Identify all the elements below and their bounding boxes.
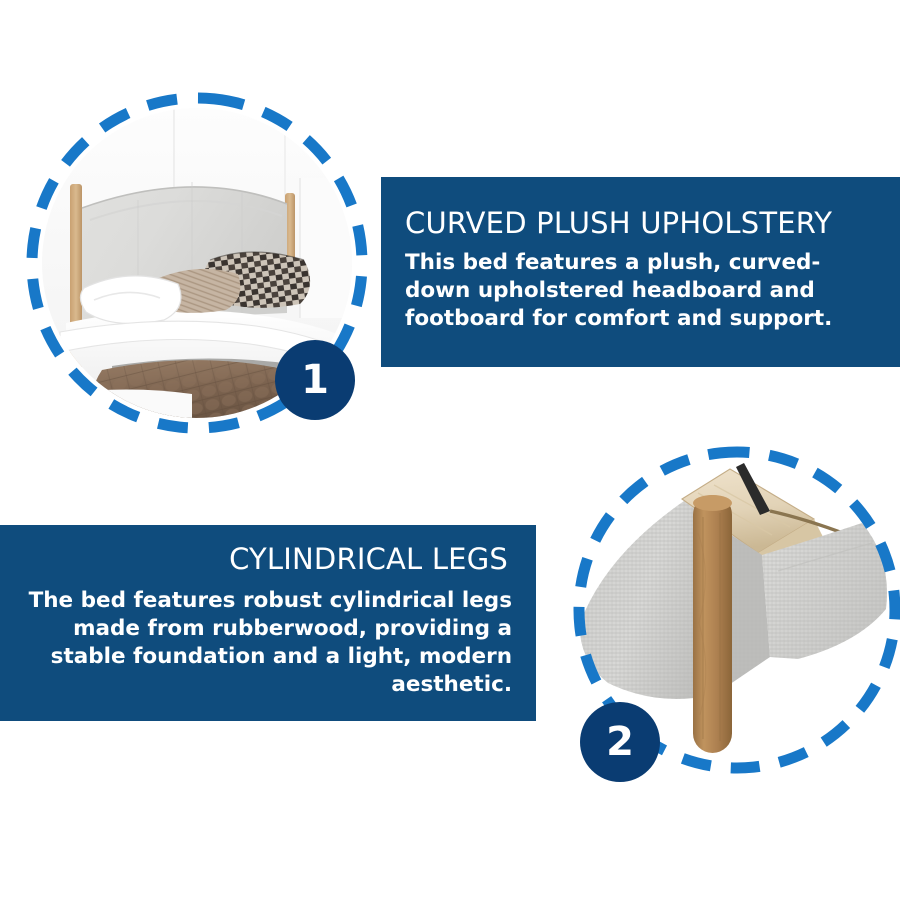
feature-number-badge-2: 2: [580, 702, 660, 782]
feature-body-1: This bed features a plush, curved-down u…: [405, 249, 876, 333]
feature-number-badge-1: 1: [275, 340, 355, 420]
feature-panel-1: CURVED PLUSH UPHOLSTERY This bed feature…: [381, 177, 900, 367]
feature-panel-2: CYLINDRICAL LEGS The bed features robust…: [0, 525, 536, 721]
feature-infographic: 1 CURVED PLUSH UPHOLSTERY This bed featu…: [0, 0, 900, 900]
feature-title-2: CYLINDRICAL LEGS: [229, 543, 512, 575]
badge-number-2: 2: [606, 722, 634, 762]
feature-body-2: The bed features robust cylindrical legs…: [24, 587, 512, 699]
badge-number-1: 1: [301, 360, 329, 400]
feature-title-1: CURVED PLUSH UPHOLSTERY: [405, 207, 876, 239]
